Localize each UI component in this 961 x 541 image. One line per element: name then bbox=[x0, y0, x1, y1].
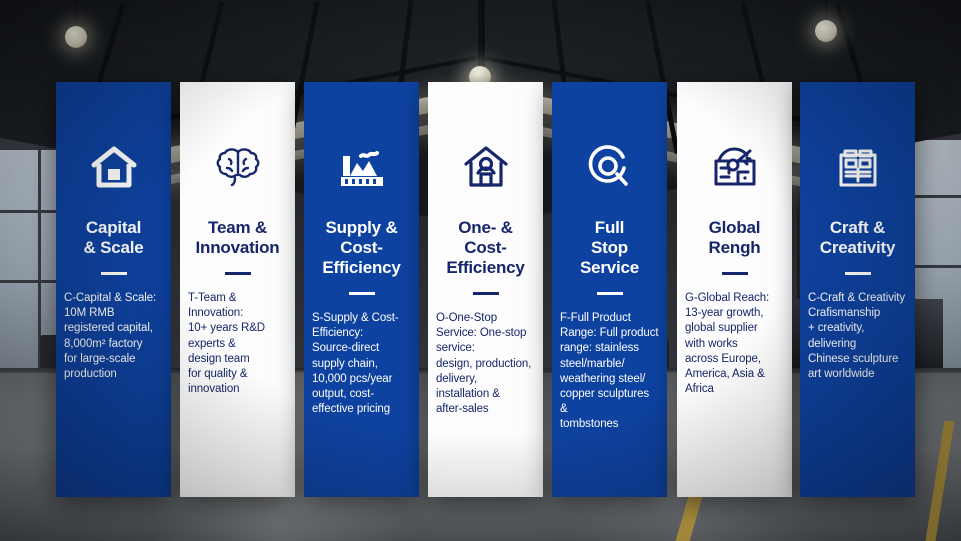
panel-divider bbox=[349, 292, 375, 295]
banner-panel-capital-scale[interactable]: Capital & Scale C-Capital & Scale: 10M R… bbox=[56, 82, 171, 497]
panel-title: Team & Innovation bbox=[196, 218, 280, 258]
factory-icon bbox=[335, 138, 389, 196]
panel-divider bbox=[101, 272, 127, 275]
lamp-stem bbox=[75, 0, 77, 28]
panel-divider bbox=[473, 292, 499, 295]
panel-divider bbox=[845, 272, 871, 275]
panel-title: Capital & Scale bbox=[83, 218, 143, 258]
panel-title: One- & Cost-Efficiency bbox=[436, 218, 535, 278]
banner-panel-global-rengh[interactable]: Global Rengh G-Global Reach: 13-year gro… bbox=[677, 82, 792, 497]
lamp-stem bbox=[825, 0, 827, 22]
panel-body-text: T-Team & Innovation: 10+ years R&D exper… bbox=[188, 291, 287, 397]
slide-canvas: Capital & Scale C-Capital & Scale: 10M R… bbox=[0, 0, 961, 541]
ceiling-lamp-right bbox=[815, 20, 837, 42]
globe-map-icon bbox=[709, 138, 761, 196]
house-person-icon bbox=[461, 138, 511, 196]
lamp-stem bbox=[479, 0, 481, 68]
panel-body-text: C-Capital & Scale: 10M RMB registered ca… bbox=[64, 291, 163, 382]
document-grid-icon bbox=[834, 138, 882, 196]
magnifier-circle-icon bbox=[586, 138, 634, 196]
brain-icon bbox=[213, 138, 263, 196]
ceiling-lamp-left bbox=[65, 26, 87, 48]
panel-title: Full Stop Service bbox=[560, 218, 659, 278]
panel-title: Supply & Cost-Efficiency bbox=[312, 218, 411, 278]
banner-panel-full-stop-service[interactable]: Full Stop Service F-Full Product Range: … bbox=[552, 82, 667, 497]
panel-body-text: F-Full Product Range: Full product range… bbox=[560, 311, 659, 432]
banner-panel-supply-cost-efficiency[interactable]: Supply & Cost-Efficiency S-Supply & Cost… bbox=[304, 82, 419, 497]
panel-body-text: G-Global Reach: 13-year growth, global s… bbox=[685, 291, 784, 397]
panel-divider bbox=[722, 272, 748, 275]
banner-panel-craft-creativity[interactable]: Craft & Creativity C-Craft & Creativity … bbox=[800, 82, 915, 497]
panel-title: Global Rengh bbox=[709, 218, 761, 258]
panel-body-text: S-Supply & Cost- Efficiency: Source-dire… bbox=[312, 311, 411, 417]
panel-body-text: C-Craft & Creativity Crafismanship + cre… bbox=[808, 291, 907, 382]
panel-title: Craft & Creativity bbox=[820, 218, 895, 258]
house-icon bbox=[90, 138, 138, 196]
panel-divider bbox=[597, 292, 623, 295]
banner-panel-one-stop[interactable]: One- & Cost-Efficiency O-One-Stop Servic… bbox=[428, 82, 543, 497]
panel-body-text: O-One-Stop Service: One-stop service: de… bbox=[436, 311, 535, 417]
panel-divider bbox=[225, 272, 251, 275]
banner-panel-team-innovation[interactable]: Team & Innovation T-Team & Innovation: 1… bbox=[180, 82, 295, 497]
